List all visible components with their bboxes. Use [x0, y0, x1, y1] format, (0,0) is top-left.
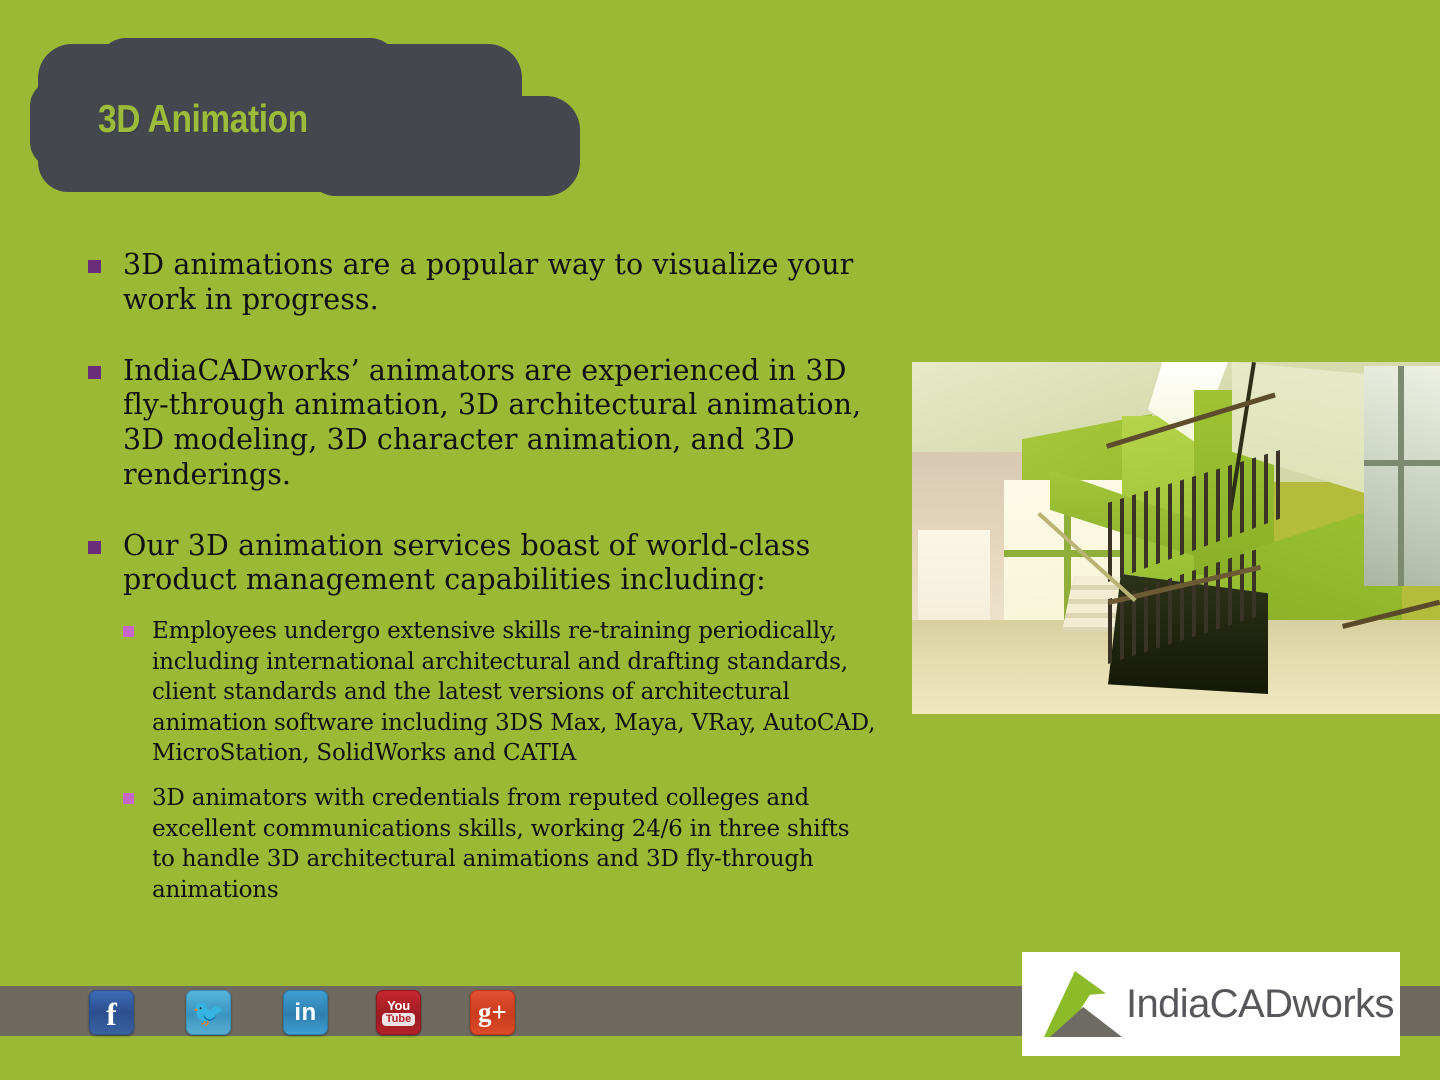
square-sub-bullet-icon [123, 626, 134, 637]
logo-mountain-icon [1036, 971, 1122, 1037]
youtube-icon[interactable]: You Tube [376, 990, 421, 1035]
bullet-list: 3D animations are a popular way to visua… [88, 248, 878, 905]
sub-bullet-text: 3D animators with credentials from reput… [152, 783, 878, 905]
youtube-you-text: You [387, 999, 410, 1012]
square-bullet-icon [88, 541, 101, 554]
photo-right-window-frame-v [1398, 366, 1404, 586]
title-banner-shape-lobe [306, 96, 580, 196]
square-sub-bullet-icon [123, 793, 134, 804]
twitter-icon[interactable]: 🐦 [186, 990, 231, 1035]
googleplus-icon[interactable]: g+ [470, 990, 515, 1035]
facebook-glyph: f [106, 998, 117, 1030]
list-item: IndiaCADworks’ animators are experienced… [88, 354, 878, 493]
list-item: Employees undergo extensive skills re-tr… [123, 616, 878, 769]
linkedin-icon[interactable]: in [283, 990, 328, 1035]
bullet-text: IndiaCADworks’ animators are experienced… [123, 354, 878, 493]
logo-wordmark: IndiaCADworks [1126, 982, 1394, 1027]
bullet-text: 3D animations are a popular way to visua… [123, 248, 878, 318]
googleplus-glyph: g+ [478, 999, 507, 1026]
twitter-glyph: 🐦 [192, 1000, 224, 1026]
page-title: 3D Animation [98, 98, 308, 142]
square-bullet-icon [88, 260, 101, 273]
list-item: 3D animators with credentials from reput… [123, 783, 878, 905]
bullet-text: Our 3D animation services boast of world… [123, 529, 878, 599]
stairwell-photo [912, 362, 1440, 714]
company-logo: IndiaCADworks [1022, 952, 1400, 1056]
linkedin-glyph: in [294, 1001, 316, 1025]
facebook-icon[interactable]: f [89, 990, 134, 1035]
square-bullet-icon [88, 366, 101, 379]
presentation-slide: 3D Animation 3D animations are a popular… [0, 0, 1440, 1080]
list-item: Our 3D animation services boast of world… [88, 529, 878, 906]
sub-bullet-text: Employees undergo extensive skills re-tr… [152, 616, 878, 769]
list-item: 3D animations are a popular way to visua… [88, 248, 878, 318]
youtube-tube-text: Tube [382, 1013, 415, 1026]
sub-bullet-list: Employees undergo extensive skills re-tr… [123, 616, 878, 905]
